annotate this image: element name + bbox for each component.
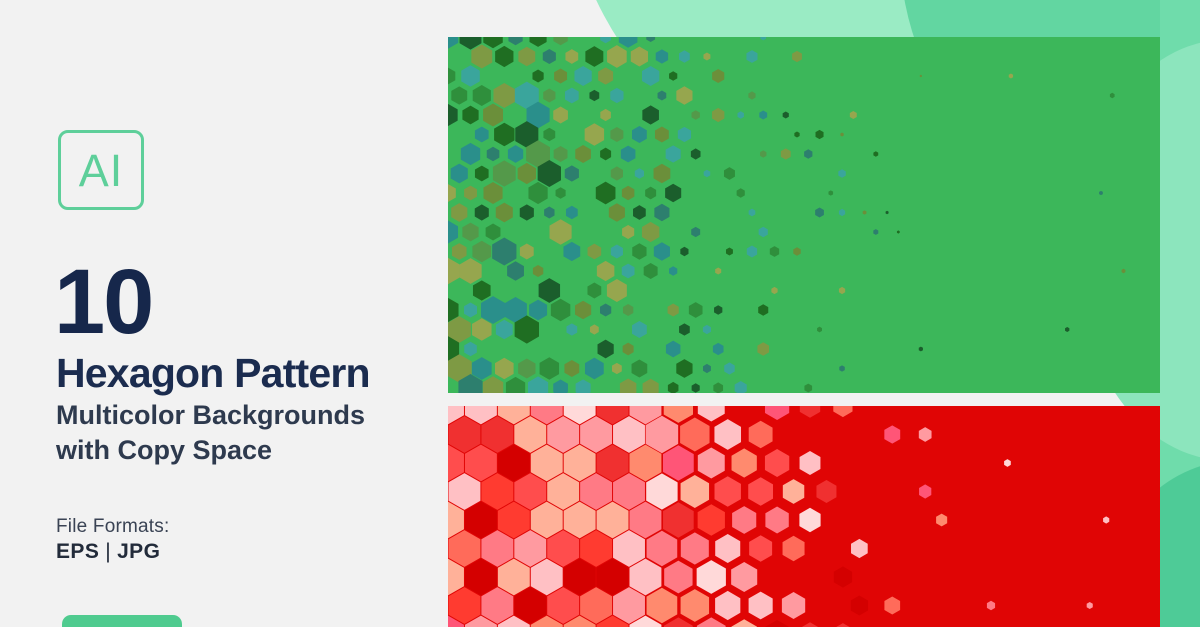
cta-button[interactable] <box>62 615 182 627</box>
format-separator: | <box>99 540 117 563</box>
subtitle-line-2: with Copy Space <box>56 433 456 468</box>
ai-format-badge: AI <box>58 130 144 210</box>
format-jpg: JPG <box>117 540 160 563</box>
info-column: AI 10 Hexagon Pattern Multicolor Backgro… <box>0 0 448 627</box>
mint-right-strip <box>1160 0 1200 627</box>
ai-badge-label: AI <box>79 148 124 193</box>
page-subtitle: Multicolor Backgrounds with Copy Space <box>56 398 456 467</box>
subtitle-line-1: Multicolor Backgrounds <box>56 398 456 433</box>
item-count: 10 <box>54 256 152 348</box>
product-banner: AI 10 Hexagon Pattern Multicolor Backgro… <box>0 0 1200 627</box>
file-formats-label: File Formats: <box>56 516 169 538</box>
file-formats-value: EPS|JPG <box>56 540 160 564</box>
red-hexagon-preview <box>448 406 1160 627</box>
format-eps: EPS <box>56 540 99 563</box>
page-title: Hexagon Pattern <box>56 352 370 395</box>
green-hexagon-preview <box>448 37 1160 393</box>
